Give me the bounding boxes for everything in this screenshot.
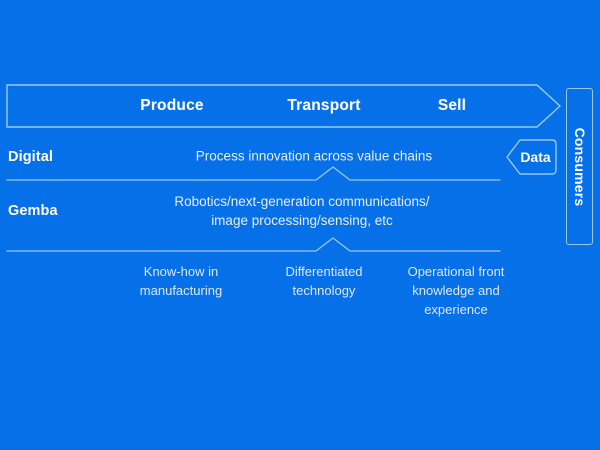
value-chain-stage-sell: Sell xyxy=(438,97,466,115)
data-badge: Data xyxy=(505,139,557,175)
foundation-column-differentiated-technology: Differentiated technology xyxy=(259,262,389,300)
data-badge-label: Data xyxy=(505,139,557,175)
value-chain-stage-produce: Produce xyxy=(140,97,203,115)
row-text-digital: Process innovation across value chains xyxy=(144,147,484,166)
row-label-gemba: Gemba xyxy=(8,203,58,219)
divider-line-1 xyxy=(7,167,500,180)
value-chain-stage-transport: Transport xyxy=(287,97,360,115)
foundation-column-know-how: Know-how in manufacturing xyxy=(111,262,251,300)
consumers-label: Consumers xyxy=(572,127,588,206)
foundation-column-operational-front-knowledge: Operational front knowledge and experien… xyxy=(391,262,521,319)
diagram-canvas: Produce Transport Sell Digital Gemba Pro… xyxy=(0,0,600,450)
divider-line-2 xyxy=(7,238,500,251)
row-text-gemba: Robotics/next-generation communications/… xyxy=(102,192,502,230)
row-label-digital: Digital xyxy=(8,149,53,165)
consumers-box: Consumers xyxy=(566,88,593,245)
value-chain-arrow-outline xyxy=(7,85,560,127)
